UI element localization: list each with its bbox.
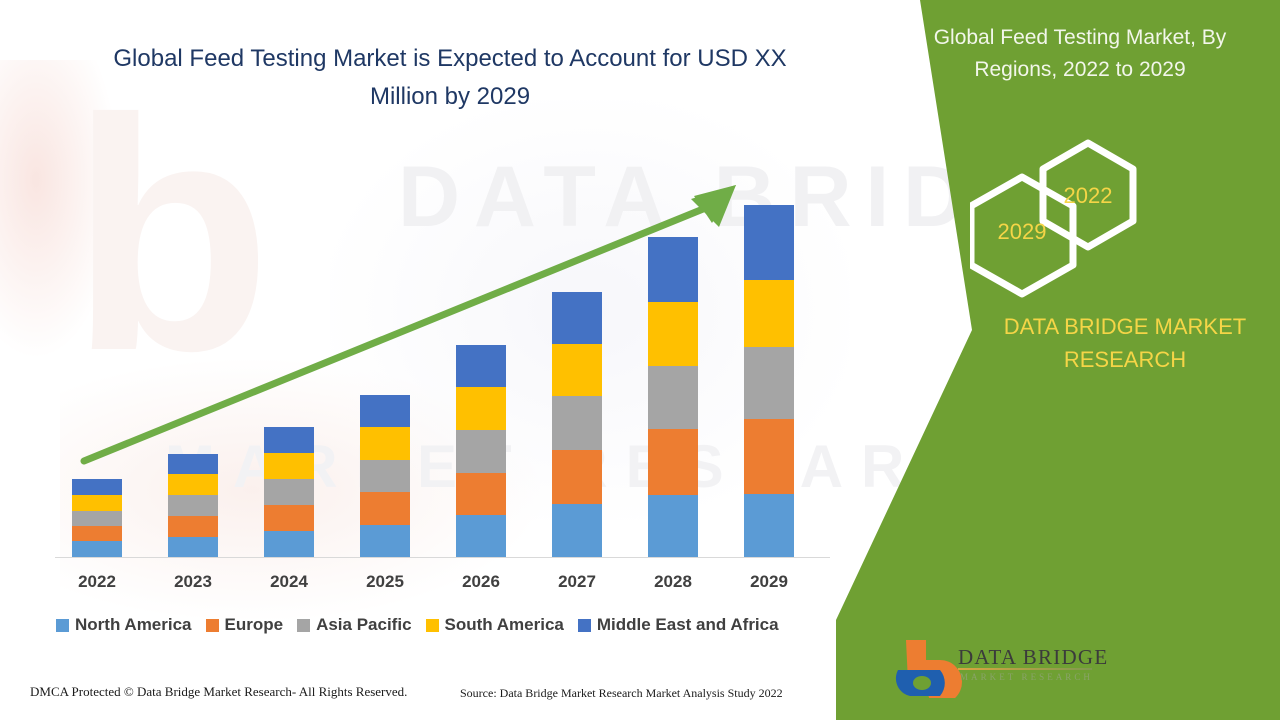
bar-segment-europe[interactable] xyxy=(744,419,794,494)
legend-label: Middle East and Africa xyxy=(597,615,779,635)
bar-segment-middle-east-and-africa[interactable] xyxy=(72,479,122,495)
bar-segment-south-america[interactable] xyxy=(72,495,122,511)
bar-segment-south-america[interactable] xyxy=(744,280,794,347)
bar-segment-europe[interactable] xyxy=(552,450,602,504)
bar-segment-asia-pacific[interactable] xyxy=(168,495,218,516)
footer-source: Source: Data Bridge Market Research Mark… xyxy=(460,686,783,701)
bar-stack-2028[interactable] xyxy=(648,237,698,557)
bar-segment-north-america[interactable] xyxy=(168,537,218,557)
x-axis-label-2024: 2024 xyxy=(249,572,329,592)
bar-segment-middle-east-and-africa[interactable] xyxy=(648,237,698,302)
logo-wordmark: DATA BRIDGE xyxy=(958,645,1108,670)
hexagon-label-left: 2029 xyxy=(977,219,1067,245)
bar-stack-2023[interactable] xyxy=(168,454,218,557)
bar-stack-2026[interactable] xyxy=(456,345,506,557)
legend-label: Asia Pacific xyxy=(316,615,411,635)
watermark-logo-glyph: b xyxy=(70,70,324,400)
bar-stack-2022[interactable] xyxy=(72,479,122,557)
chart-baseline-axis xyxy=(55,557,830,558)
bar-segment-asia-pacific[interactable] xyxy=(456,430,506,473)
legend-item-middle-east-and-africa[interactable]: Middle East and Africa xyxy=(578,615,779,635)
bar-segment-north-america[interactable] xyxy=(264,531,314,557)
x-axis-label-2025: 2025 xyxy=(345,572,425,592)
bar-segment-asia-pacific[interactable] xyxy=(552,396,602,450)
bar-segment-asia-pacific[interactable] xyxy=(648,366,698,429)
bar-segment-north-america[interactable] xyxy=(648,495,698,557)
bar-segment-europe[interactable] xyxy=(456,473,506,515)
bar-segment-asia-pacific[interactable] xyxy=(744,347,794,419)
panel-brand-text: DATA BRIDGE MARKET RESEARCH xyxy=(970,310,1280,376)
background-tint-left xyxy=(0,60,120,360)
bar-segment-europe[interactable] xyxy=(168,516,218,537)
legend-label: Europe xyxy=(225,615,284,635)
bar-segment-middle-east-and-africa[interactable] xyxy=(264,427,314,453)
bar-segment-middle-east-and-africa[interactable] xyxy=(744,205,794,280)
x-axis-label-2027: 2027 xyxy=(537,572,617,592)
bar-segment-europe[interactable] xyxy=(264,505,314,531)
bar-stack-2027[interactable] xyxy=(552,292,602,557)
bar-stack-2029[interactable] xyxy=(744,205,794,557)
x-axis-label-2028: 2028 xyxy=(633,572,713,592)
legend-swatch-icon xyxy=(578,619,591,632)
logo-tagline: MARKET RESEARCH xyxy=(960,672,1093,682)
bar-segment-middle-east-and-africa[interactable] xyxy=(456,345,506,387)
legend-label: South America xyxy=(445,615,564,635)
x-axis-label-2026: 2026 xyxy=(441,572,521,592)
bar-segment-south-america[interactable] xyxy=(360,427,410,460)
x-axis-labels: 20222023202420252026202720282029 xyxy=(0,572,860,598)
hexagon-badges: 2022 2029 xyxy=(970,135,1200,300)
bar-segment-europe[interactable] xyxy=(360,492,410,525)
chart-legend: North AmericaEuropeAsia PacificSouth Ame… xyxy=(56,615,846,635)
infographic-canvas: b DATA BRIDGE MARKET RESEARCH Global Fee… xyxy=(0,0,1280,720)
legend-item-asia-pacific[interactable]: Asia Pacific xyxy=(297,615,411,635)
bar-segment-europe[interactable] xyxy=(648,429,698,495)
bar-segment-south-america[interactable] xyxy=(456,387,506,430)
bar-segment-europe[interactable] xyxy=(72,526,122,541)
bar-stack-2025[interactable] xyxy=(360,395,410,557)
bar-segment-north-america[interactable] xyxy=(360,525,410,557)
bar-segment-north-america[interactable] xyxy=(456,515,506,557)
bar-segment-north-america[interactable] xyxy=(744,494,794,557)
x-axis-label-2029: 2029 xyxy=(729,572,809,592)
logo-divider xyxy=(958,668,1092,670)
bar-segment-middle-east-and-africa[interactable] xyxy=(168,454,218,474)
legend-label: North America xyxy=(75,615,192,635)
legend-item-south-america[interactable]: South America xyxy=(426,615,564,635)
legend-item-north-america[interactable]: North America xyxy=(56,615,192,635)
bar-segment-south-america[interactable] xyxy=(168,474,218,495)
footer-copyright: DMCA Protected © Data Bridge Market Rese… xyxy=(30,684,407,700)
legend-swatch-icon xyxy=(206,619,219,632)
hexagon-label-right: 2022 xyxy=(1043,183,1133,209)
panel-title: Global Feed Testing Market, By Regions, … xyxy=(900,22,1260,86)
chart-title: Global Feed Testing Market is Expected t… xyxy=(110,40,790,116)
x-axis-label-2022: 2022 xyxy=(57,572,137,592)
legend-swatch-icon xyxy=(426,619,439,632)
bar-segment-asia-pacific[interactable] xyxy=(72,511,122,526)
bar-segment-middle-east-and-africa[interactable] xyxy=(360,395,410,427)
bar-segment-north-america[interactable] xyxy=(552,504,602,557)
bar-segment-south-america[interactable] xyxy=(552,344,602,396)
bar-segment-south-america[interactable] xyxy=(264,453,314,479)
bar-stack-2024[interactable] xyxy=(264,427,314,557)
bar-segment-asia-pacific[interactable] xyxy=(360,460,410,492)
legend-swatch-icon xyxy=(297,619,310,632)
x-axis-label-2023: 2023 xyxy=(153,572,233,592)
bar-segment-south-america[interactable] xyxy=(648,302,698,366)
bar-segment-north-america[interactable] xyxy=(72,541,122,557)
legend-swatch-icon xyxy=(56,619,69,632)
bar-segment-middle-east-and-africa[interactable] xyxy=(552,292,602,344)
bar-segment-asia-pacific[interactable] xyxy=(264,479,314,505)
legend-item-europe[interactable]: Europe xyxy=(206,615,284,635)
